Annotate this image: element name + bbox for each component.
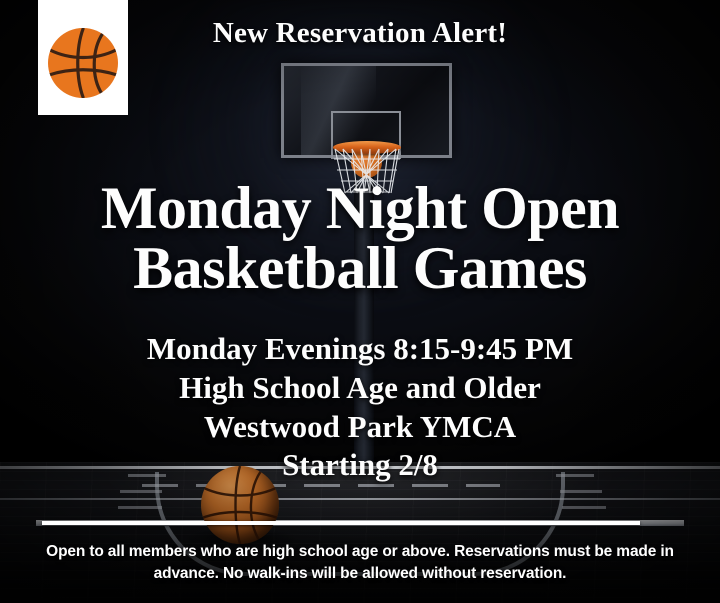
divider — [42, 521, 640, 525]
footer-note: Open to all members who are high school … — [36, 541, 684, 586]
detail-start-date: Starting 2/8 — [0, 446, 720, 485]
detail-location: Westwood Park YMCA — [0, 408, 720, 447]
poster-title-line-2: Basketball Games — [0, 238, 720, 298]
poster-title: Monday Night Open Basketball Games — [0, 178, 720, 298]
poster-title-line-1: Monday Night Open — [0, 178, 720, 238]
detail-age: High School Age and Older — [0, 369, 720, 408]
event-details: Monday Evenings 8:15-9:45 PM High School… — [0, 330, 720, 485]
alert-heading: New Reservation Alert! — [0, 17, 720, 50]
promotional-poster: New Reservation Alert! Monday Night Open… — [0, 0, 720, 603]
detail-schedule: Monday Evenings 8:15-9:45 PM — [0, 330, 720, 369]
